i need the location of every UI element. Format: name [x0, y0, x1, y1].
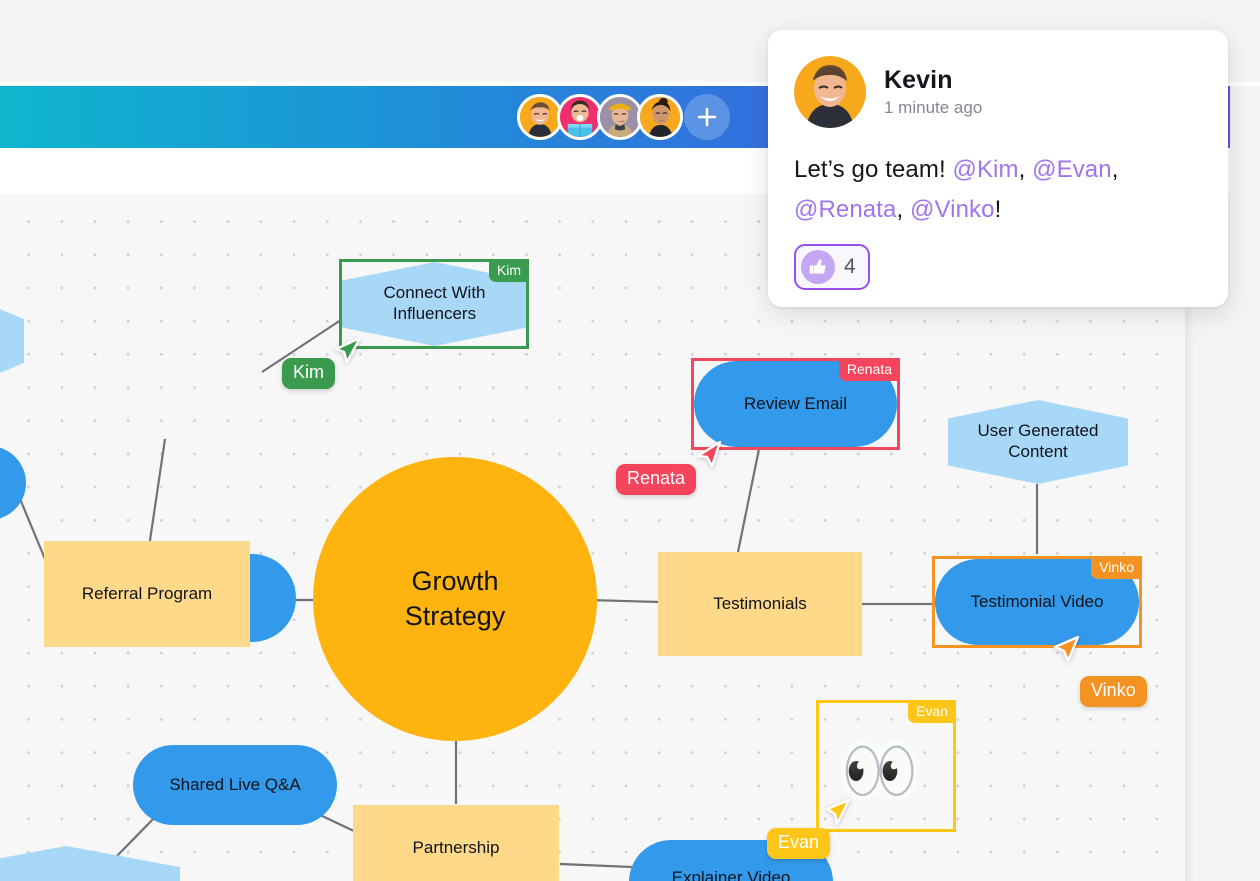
cursor-arrow-evan-icon: [822, 797, 852, 827]
node-testimonials[interactable]: Testimonials: [658, 552, 862, 656]
comment-text-segment: !: [995, 196, 1002, 223]
comment-author-avatar[interactable]: [794, 56, 866, 128]
avatar-stack: [517, 94, 683, 140]
node-testimonials-label: Testimonials: [713, 594, 807, 615]
comment-timestamp: 1 minute ago: [884, 98, 982, 118]
avatar-vinko[interactable]: [637, 94, 683, 140]
cursor-arrow-kim-icon: [332, 336, 362, 366]
cursor-label-renata: Renata: [616, 464, 696, 495]
node-referral-program[interactable]: Referral Program: [44, 541, 250, 647]
mention-kim[interactable]: @Kim: [952, 156, 1018, 183]
comment-author-avatar-image: [794, 56, 866, 128]
node-partnership-label: Partnership: [413, 838, 500, 859]
presence-avatars: [517, 86, 730, 148]
comment-card[interactable]: Kevin 1 minute ago Let’s go team! @Kim, …: [768, 30, 1228, 307]
eyes-emoji-sticker[interactable]: 👀: [841, 741, 918, 803]
selection-tag-kim: Kim: [489, 259, 529, 282]
node-growth-strategy-label: Growth Strategy: [405, 564, 506, 634]
cursor-vinko: Vinko: [1052, 634, 1082, 664]
node-explainer-video-label: Explainer Video: [672, 868, 791, 881]
selection-tag-evan: Evan: [908, 700, 956, 723]
cursor-arrow-vinko-icon: [1052, 634, 1082, 664]
cursor-evan: Evan: [822, 797, 852, 827]
cursor-label-evan: Evan: [767, 828, 830, 859]
selection-frame-renata[interactable]: Renata: [691, 358, 900, 450]
comment-header: Kevin 1 minute ago: [794, 56, 1202, 128]
cursor-label-vinko: Vinko: [1080, 676, 1147, 707]
comment-text-segment: ,: [1112, 156, 1119, 183]
node-growth-strategy[interactable]: Growth Strategy: [313, 457, 597, 741]
comment-text-segment: Let’s go team!: [794, 156, 952, 183]
avatar-ring-vinko: [637, 94, 683, 140]
selection-tag-renata: Renata: [839, 358, 900, 381]
thumbs-up-glyph: [808, 257, 828, 277]
reaction-thumbs-up-button[interactable]: 4: [794, 244, 870, 290]
cursor-label-kim: Kim: [282, 358, 335, 389]
cursor-arrow-renata-icon: [696, 440, 726, 470]
cursor-renata: Renata: [696, 440, 726, 470]
selection-tag-vinko: Vinko: [1091, 556, 1142, 579]
thumbs-up-icon: [801, 250, 835, 284]
comment-body: Let’s go team! @Kim, @Evan, @Renata, @Vi…: [794, 150, 1202, 230]
node-shared-live-qa-label: Shared Live Q&A: [169, 775, 300, 796]
mention-renata[interactable]: @Renata: [794, 196, 896, 223]
comment-text-segment: ,: [896, 196, 910, 223]
node-referral-program-label: Referral Program: [82, 584, 212, 605]
comment-author-meta: Kevin 1 minute ago: [884, 66, 982, 118]
mention-vinko[interactable]: @Vinko: [910, 196, 995, 223]
comment-text-segment: ,: [1019, 156, 1033, 183]
comment-author-name: Kevin: [884, 66, 982, 95]
plus-icon: [695, 105, 719, 129]
cursor-kim: Kim: [332, 336, 362, 366]
node-partnership[interactable]: Partnership: [353, 805, 559, 881]
node-user-generated-content-label: User Generated Content: [978, 421, 1099, 462]
app-root: Connect With Influencers Kim Collaborati…: [0, 0, 1260, 881]
node-shared-live-qa[interactable]: Shared Live Q&A: [133, 745, 337, 825]
selection-frame-kim[interactable]: Kim: [339, 259, 529, 349]
add-collaborator-button[interactable]: [684, 94, 730, 140]
selection-frame-vinko[interactable]: Vinko: [932, 556, 1142, 648]
reaction-count: 4: [844, 255, 856, 279]
mention-evan[interactable]: @Evan: [1032, 156, 1112, 183]
